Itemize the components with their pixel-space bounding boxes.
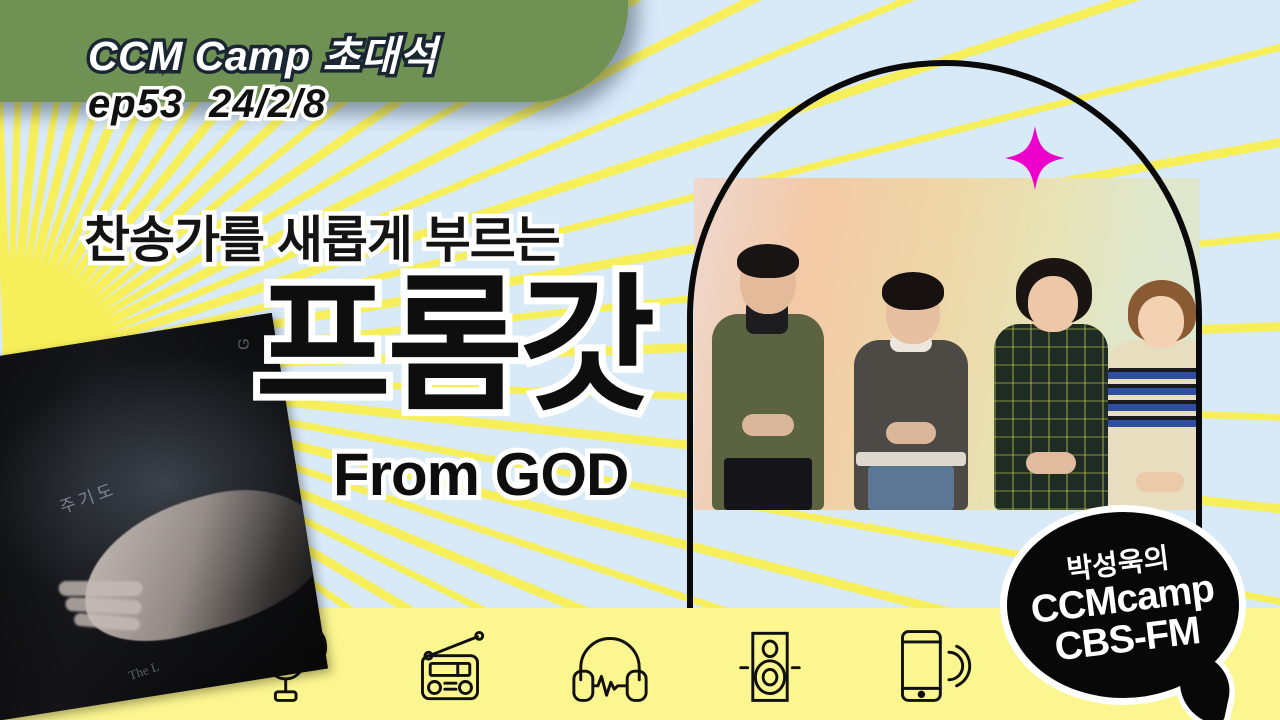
album-finger-1 — [59, 581, 143, 596]
program-title: CCM Camp 초대석 — [88, 36, 668, 77]
headline-english-title: From GOD — [333, 440, 628, 509]
speaker-icon — [727, 623, 813, 709]
headphones-icon — [567, 623, 653, 709]
radio-icon — [407, 623, 493, 709]
smartphone-icon — [887, 623, 973, 709]
station-badge: 박성욱의 CCMcamp CBS-FM — [1000, 505, 1246, 720]
headline-subtitle: 찬송가를 새롭게 부르는 — [84, 200, 560, 272]
episode-date: 24/2/8 — [209, 82, 326, 126]
badge-text: 박성욱의 CCMcamp CBS-FM — [989, 491, 1258, 719]
thumbnail-canvas: 주기도 G The L 찬송가를 새롭게 부르는 프롬갓 From GOD CC… — [0, 0, 1280, 720]
episode-line: ep5324/2/8 — [88, 84, 668, 124]
headline-main-title: 프롬갓 — [255, 272, 651, 423]
episode-number: ep53 — [88, 82, 183, 126]
sparkle-star-icon — [1003, 124, 1067, 192]
program-banner-text: CCM Camp 초대석 ep5324/2/8 — [0, 0, 668, 132]
